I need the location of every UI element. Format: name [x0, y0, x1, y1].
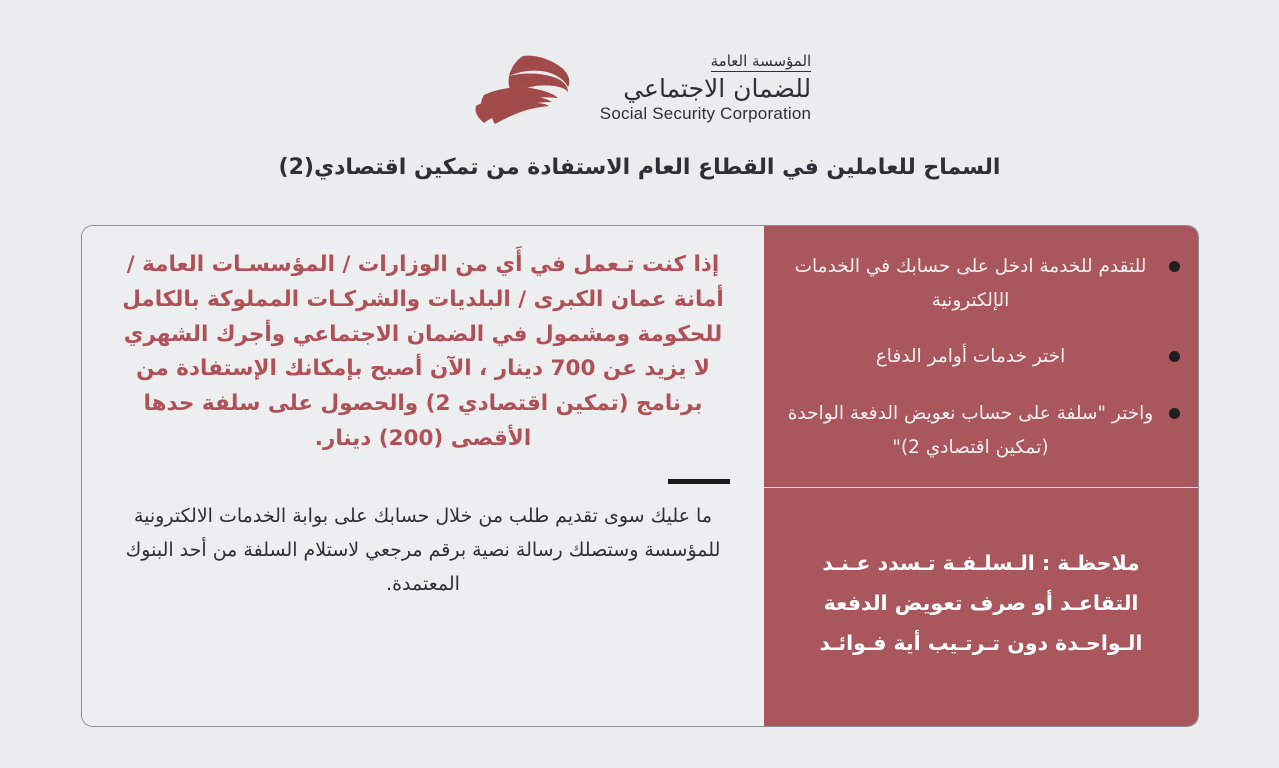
bullet-dot-icon — [1169, 351, 1180, 362]
step-text-2: اختر خدمات أوامر الدفاع — [786, 340, 1155, 374]
infographic-page: المؤسسة العامة للضمان الاجتماعي Social S… — [0, 0, 1279, 768]
logo-arabic-line-1: المؤسسة العامة — [711, 54, 812, 72]
logo-wordmark: المؤسسة العامة للضمان الاجتماعي Social S… — [600, 54, 811, 122]
content-card: إذا كنت تـعمل في أَي من الوزارات / المؤس… — [81, 225, 1199, 727]
body-paragraph: ما عليك سوى تقديم طلب من خلال حسابك على … — [116, 500, 730, 601]
divider-wrap — [116, 479, 730, 484]
steps-list: للتقدم للخدمة ادخل على حسابك في الخدمات … — [764, 226, 1198, 487]
step-text-3: واختر "سلفة على حساب نعويض الدفعة الواحد… — [786, 397, 1155, 465]
page-title: السماح للعاملين في القطاع العام الاستفاد… — [0, 155, 1279, 180]
list-item: للتقدم للخدمة ادخل على حسابك في الخدمات … — [786, 250, 1180, 318]
list-item: واختر "سلفة على حساب نعويض الدفعة الواحد… — [786, 397, 1180, 465]
section-divider — [668, 479, 730, 484]
bullet-dot-icon — [1169, 261, 1180, 272]
steps-panel: للتقدم للخدمة ادخل على حسابك في الخدمات … — [764, 226, 1198, 726]
logo-english-name: Social Security Corporation — [600, 105, 811, 122]
ssc-bird-wing-logo-icon — [468, 52, 586, 124]
ssc-logo: المؤسسة العامة للضمان الاجتماعي Social S… — [0, 52, 1279, 124]
list-item: اختر خدمات أوامر الدفاع — [786, 340, 1180, 374]
step-text-1: للتقدم للخدمة ادخل على حسابك في الخدمات … — [786, 250, 1155, 318]
lead-paragraph: إذا كنت تـعمل في أَي من الوزارات / المؤس… — [116, 248, 730, 457]
bullet-dot-icon — [1169, 408, 1180, 419]
note-text: ملاحظـة : الـسلـفـة تـسدد عـنـد التقاعـد… — [788, 544, 1174, 664]
logo-arabic-line-2: للضمان الاجتماعي — [623, 75, 811, 103]
main-content-column: إذا كنت تـعمل في أَي من الوزارات / المؤس… — [82, 226, 764, 726]
note-section: ملاحظـة : الـسلـفـة تـسدد عـنـد التقاعـد… — [764, 488, 1198, 726]
